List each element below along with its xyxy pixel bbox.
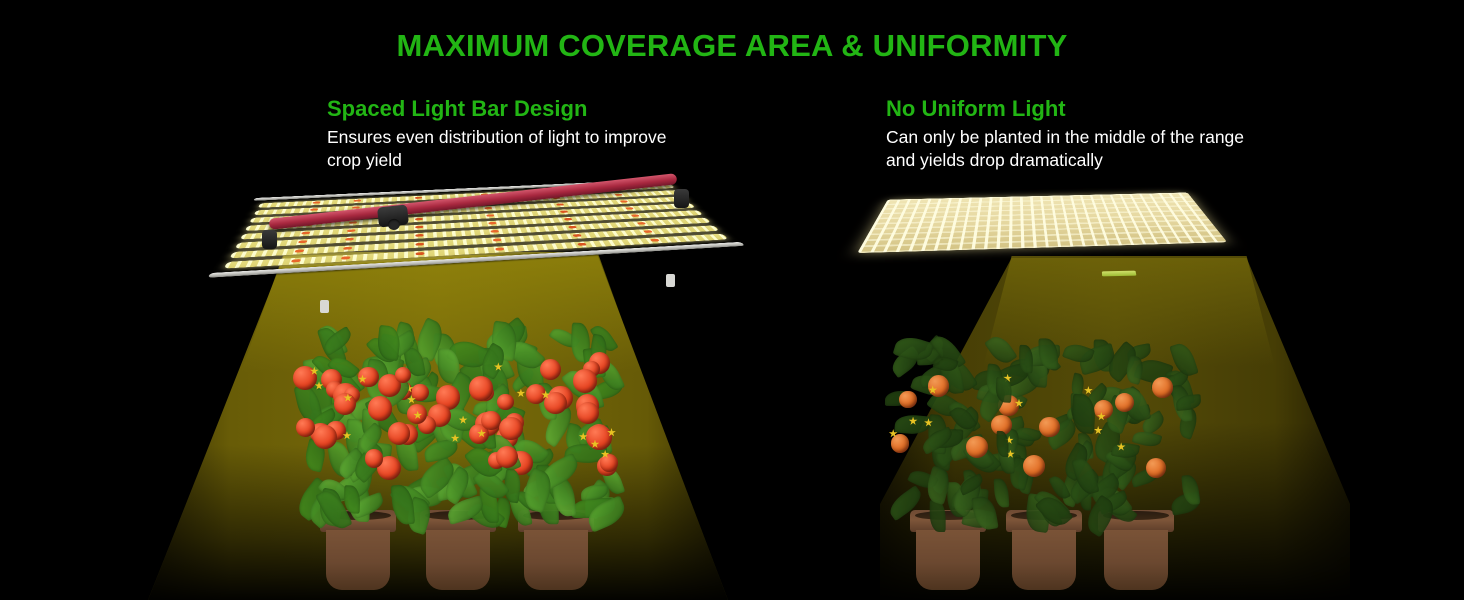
caption-no-uniform: No Uniform Light Can only be planted in … bbox=[886, 96, 1266, 172]
plant-fruit bbox=[334, 393, 356, 415]
plant-leaf bbox=[895, 413, 931, 435]
fixture-mount-bracket bbox=[377, 204, 409, 227]
spaced-led-bar-fixture bbox=[262, 188, 682, 306]
plant-group-poor bbox=[890, 318, 1190, 590]
plant-fruit bbox=[496, 446, 518, 468]
crossbar-end-cap-left bbox=[262, 230, 277, 249]
plant-fruit bbox=[891, 434, 909, 452]
plant-fruit bbox=[928, 375, 949, 396]
caption-spaced-bar: Spaced Light Bar Design Ensures even dis… bbox=[327, 96, 687, 172]
pot-body bbox=[1012, 530, 1076, 590]
plant-fruit bbox=[1023, 455, 1045, 477]
crossbar-end-cap-right bbox=[674, 189, 689, 208]
plant-fruit bbox=[1039, 417, 1060, 438]
caption-body: Can only be planted in the middle of the… bbox=[886, 126, 1266, 172]
plant-leaf bbox=[996, 431, 1009, 457]
pot-body bbox=[1104, 530, 1168, 590]
plant-fruit bbox=[1146, 458, 1167, 479]
plant-fruit bbox=[966, 436, 988, 458]
plant-flower bbox=[407, 395, 416, 404]
panel-spaced-bar-design: Spaced Light Bar Design Ensures even dis… bbox=[0, 0, 732, 600]
plant-fruit bbox=[395, 367, 411, 383]
caption-body: Ensures even distribution of light to im… bbox=[327, 126, 687, 172]
plant bbox=[890, 318, 1006, 590]
plant-fruit bbox=[573, 369, 597, 393]
quantum-board-fixture bbox=[890, 196, 1190, 288]
caption-heading: Spaced Light Bar Design bbox=[327, 96, 687, 121]
pot-body bbox=[524, 530, 588, 590]
plant-fruit bbox=[365, 449, 383, 467]
plant-fruit bbox=[544, 392, 566, 414]
plant-fruit bbox=[313, 425, 337, 449]
plant-leaf bbox=[391, 483, 416, 525]
plant-fruit bbox=[499, 417, 523, 441]
fixture-corner-clip bbox=[666, 274, 675, 287]
plant-fruit bbox=[497, 394, 514, 411]
plant-fruit bbox=[358, 367, 378, 387]
plant-fruit bbox=[899, 391, 916, 408]
plant-foliage bbox=[878, 338, 1018, 528]
plant-leaf bbox=[930, 500, 946, 532]
plant-fruit bbox=[1152, 377, 1173, 398]
plant-fruit bbox=[600, 454, 618, 472]
board-driver-connector bbox=[1102, 271, 1137, 277]
pot-body bbox=[916, 530, 980, 590]
plant-group-healthy bbox=[300, 300, 620, 590]
plant-fruit bbox=[540, 359, 561, 380]
plant-leaf bbox=[1062, 341, 1095, 366]
pot-body bbox=[326, 530, 390, 590]
quantum-board-led-grid bbox=[857, 192, 1227, 253]
pot-body bbox=[426, 530, 490, 590]
plant-fruit bbox=[388, 422, 410, 444]
plant-leaf bbox=[885, 485, 926, 521]
plant bbox=[300, 300, 416, 590]
plant-fruit bbox=[481, 411, 501, 431]
caption-heading: No Uniform Light bbox=[886, 96, 1266, 121]
plant-fruit bbox=[587, 425, 611, 449]
plant-foliage bbox=[283, 323, 433, 528]
